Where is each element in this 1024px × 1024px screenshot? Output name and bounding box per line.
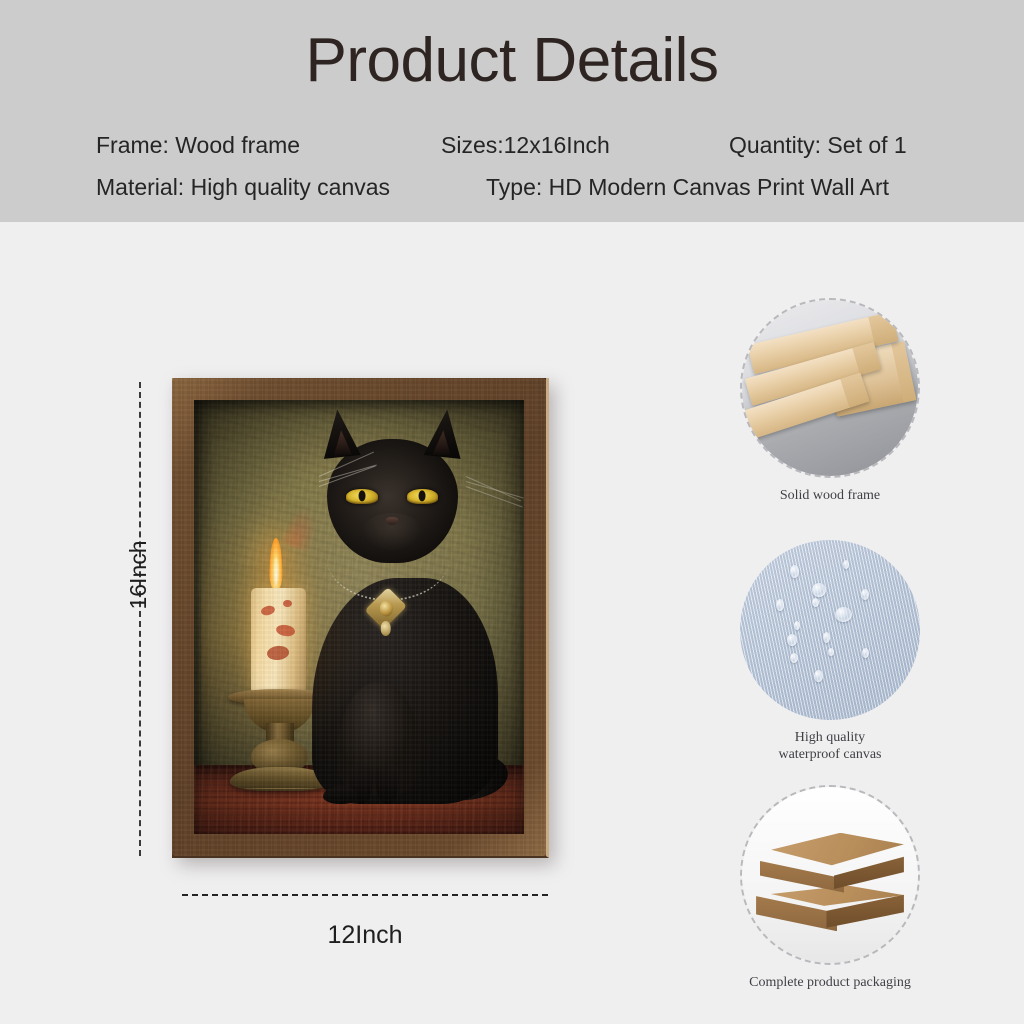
spec-quantity: Quantity: Set of 1 bbox=[729, 128, 907, 162]
header-band: Product Details Frame: Wood frame Sizes:… bbox=[0, 0, 1024, 222]
backdrop-patch bbox=[211, 437, 302, 537]
cat-whisker bbox=[319, 466, 376, 488]
candle-flame bbox=[270, 538, 283, 590]
feature-caption-line: waterproof canvas bbox=[715, 746, 945, 763]
spec-type: Type: HD Modern Canvas Print Wall Art bbox=[486, 170, 889, 204]
wax-drip bbox=[260, 605, 276, 618]
width-dimension-label: 12Inch bbox=[182, 918, 548, 952]
water-droplet bbox=[812, 583, 826, 597]
framed-artwork bbox=[172, 378, 549, 858]
wax-drip bbox=[283, 600, 292, 607]
flame-core bbox=[273, 557, 278, 584]
cat-paw bbox=[323, 786, 356, 804]
spec-material: Material: High quality canvas bbox=[96, 170, 390, 204]
canvas-fabric-photo bbox=[740, 540, 920, 720]
feature-caption-line: High quality bbox=[715, 729, 945, 746]
water-droplet bbox=[790, 653, 798, 663]
water-droplet bbox=[787, 634, 797, 646]
spec-sizes: Sizes:12x16Inch bbox=[441, 128, 610, 162]
wood-planks-photo bbox=[742, 300, 918, 476]
cat-ear-inner bbox=[332, 430, 352, 456]
water-droplet bbox=[812, 598, 819, 607]
feature-solid-wood-frame: Solid wood frame bbox=[715, 298, 945, 504]
cat-eye-right bbox=[407, 489, 438, 504]
water-droplet bbox=[862, 648, 869, 658]
packaging-image bbox=[740, 785, 920, 965]
box-upper-front bbox=[760, 861, 844, 893]
cat-eye-left bbox=[346, 489, 377, 504]
water-droplet bbox=[828, 648, 834, 656]
page-title: Product Details bbox=[0, 28, 1024, 93]
spec-row-2: Material: High quality canvas Type: HD M… bbox=[0, 170, 1024, 204]
canvas-print bbox=[194, 400, 524, 834]
water-droplet bbox=[861, 589, 869, 600]
water-droplet bbox=[794, 621, 800, 630]
cat-body bbox=[312, 578, 498, 804]
feature-complete-packaging: Complete product packaging bbox=[715, 785, 945, 991]
cat-pupil bbox=[359, 490, 366, 501]
pendant-drop bbox=[381, 621, 392, 636]
cat-leg bbox=[375, 765, 399, 803]
wax-drip bbox=[266, 645, 289, 661]
feature-caption: High quality waterproof canvas bbox=[715, 729, 945, 763]
feature-caption-line: Solid wood frame bbox=[715, 487, 945, 504]
water-droplet bbox=[843, 560, 849, 569]
water-droplet bbox=[835, 607, 852, 622]
black-cat bbox=[293, 439, 504, 804]
spec-frame: Frame: Wood frame bbox=[96, 128, 300, 162]
water-droplet bbox=[823, 632, 830, 643]
water-droplet bbox=[776, 599, 784, 611]
cat-head bbox=[327, 439, 458, 563]
product-details-page: Product Details Frame: Wood frame Sizes:… bbox=[0, 0, 1024, 1024]
spec-row-1: Frame: Wood frame Sizes:12x16Inch Quanti… bbox=[0, 128, 1024, 162]
waterproof-canvas-image bbox=[740, 540, 920, 720]
feature-waterproof-canvas: High quality waterproof canvas bbox=[715, 540, 945, 763]
cat-ear-inner bbox=[432, 430, 452, 456]
height-dimension-label: 16Inch bbox=[123, 515, 153, 635]
wood-frame bbox=[172, 378, 549, 858]
cat-pupil bbox=[419, 490, 426, 501]
pendant-gem bbox=[379, 601, 392, 617]
water-droplet bbox=[790, 565, 799, 578]
solid-wood-frame-image bbox=[740, 298, 920, 478]
carton-boxes-photo bbox=[742, 787, 918, 963]
feature-caption: Solid wood frame bbox=[715, 487, 945, 504]
feature-caption: Complete product packaging bbox=[715, 974, 945, 991]
width-dimension-line bbox=[182, 894, 548, 896]
water-droplet bbox=[814, 670, 823, 682]
feature-caption-line: Complete product packaging bbox=[715, 974, 945, 991]
